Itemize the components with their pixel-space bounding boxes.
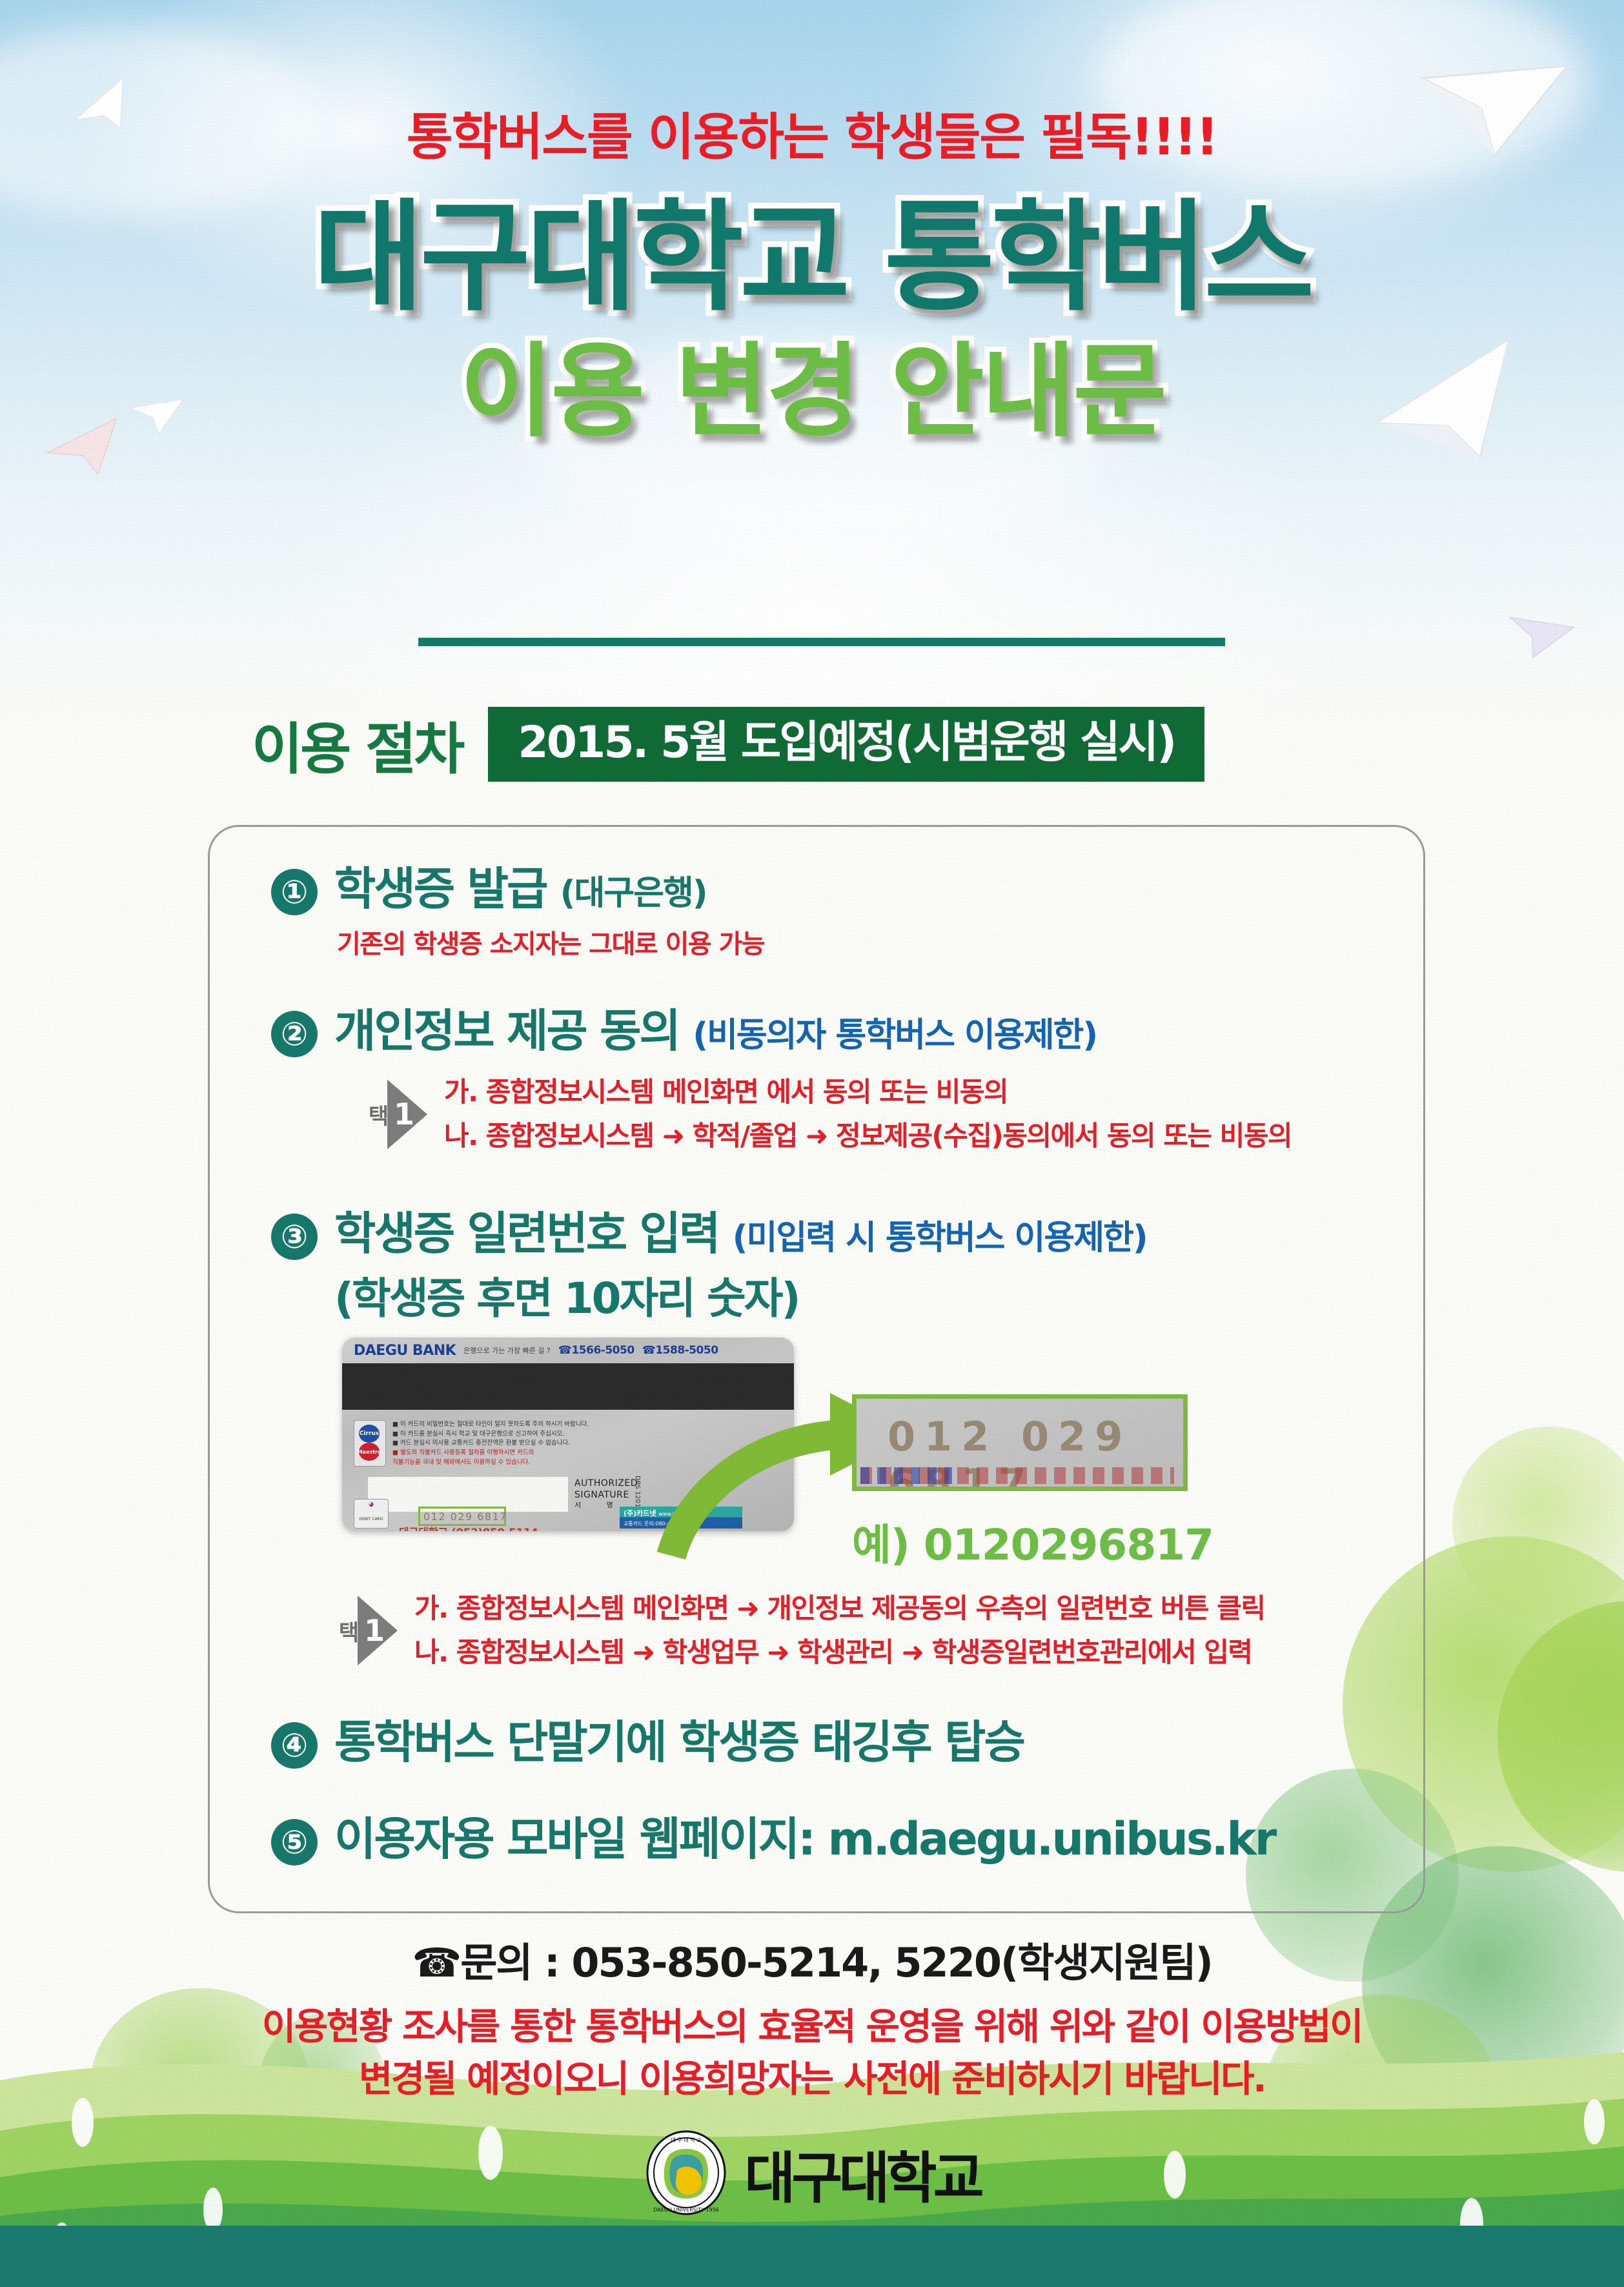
lead-headline: 통학버스를 이용하는 학생들은 필독!!!! <box>0 97 1624 169</box>
step-3-options: 가. 종합정보시스템 메인화면 ➜ 개인정보 제공동의 우측의 일련번호 버튼 … <box>414 1587 1265 1674</box>
step-3-option-a: 가. 종합정보시스템 메인화면 ➜ 개인정보 제공동의 우측의 일련번호 버튼 … <box>414 1587 1265 1631</box>
step-2-title: 개인정보 제공 동의 (비동의자 통학버스 이용제한) <box>334 1006 1292 1056</box>
poster-title: 대구대학교 통학버스 이용 변경 안내문 <box>0 194 1624 449</box>
choose-one-label: 택 <box>365 1104 387 1124</box>
serial-callout: 012 029 6817 예) 0120296817 <box>852 1394 1213 1572</box>
auth-sig-line1: AUTHORIZED <box>574 1478 638 1490</box>
notice-block: 이용현황 조사를 통한 통학버스의 효율적 운영을 위해 위와 같이 이용방법이… <box>0 2001 1624 2106</box>
step-2-choice-block: 택 1 가. 종합정보시스템 메인화면 에서 동의 또는 비동의 나. 종합정보… <box>365 1070 1292 1158</box>
step-2-options: 가. 종합정보시스템 메인화면 에서 동의 또는 비동의 나. 종합정보시스템 … <box>444 1070 1292 1158</box>
step-number-1: ① <box>271 869 318 915</box>
card-note-4: ■ 별도의 직불카드 사용등록 절차를 이행하시면 카드의 <box>392 1448 651 1458</box>
bank-tel-2: ☎1588-5050 <box>642 1344 718 1357</box>
step-2-paren: (비동의자 통학버스 이용제한) <box>693 1016 1097 1055</box>
section-header: 이용 절차 2015. 5월 도입예정(시범운행 실시) <box>252 704 1204 784</box>
section-title: 이용 절차 <box>252 704 462 784</box>
contact-text: 문의 : 053-850-5214, 5220(학생지원팀) <box>460 1939 1212 1986</box>
cirrus-icon: Cirrus <box>359 1425 380 1443</box>
debit-card-logo: ◕ DEBIT CARD <box>354 1499 389 1529</box>
step-2-option-b: 나. 종합정보시스템 ➜ 학적/졸업 ➜ 정보제공(수집)동의에서 동의 또는 … <box>444 1114 1292 1158</box>
step-3-title: 학생증 일련번호 입력 (미입력 시 통학버스 이용제한) <box>334 1208 1147 1259</box>
card-note-1: ■ 이 카드의 비밀번호는 절대로 타인이 알지 못하도록 주의 하시기 바랍니… <box>392 1420 651 1430</box>
step-3-choice-block: 택 1 가. 종합정보시스템 메인화면 ➜ 개인정보 제공동의 우측의 일련번호… <box>336 1587 1265 1674</box>
daegu-university-seal-icon: 대 구 대 학 교 DAEGU UNIVERSITY 1956 <box>644 2130 729 2215</box>
card-top-strip: DAEGU BANK 은행으로 가는 가장 빠른 길 ? ☎1566-5050 … <box>342 1337 794 1363</box>
callout-strip-blue <box>860 1467 952 1484</box>
step-5: ⑤ 이용자용 모바일 웹페이지: m.daegu.unibus.kr <box>271 1814 1275 1865</box>
card-note-3: ■ 카드 분실시 미사용 교통카드 충전잔액은 환불 받으실 수 없습니다. <box>392 1439 651 1448</box>
step-1-subtext: 기존의 학생증 소지자는 그대로 이용 가능 <box>337 923 764 961</box>
choose-one-label: 택 <box>336 1621 358 1640</box>
card-university-line: 대구대학교 (053)850-5114 <box>399 1523 538 1531</box>
svg-text:DAEGU UNIVERSITY 1956: DAEGU UNIVERSITY 1956 <box>653 2207 719 2213</box>
university-logo: 대 구 대 학 교 DAEGU UNIVERSITY 1956 대구대학교 <box>0 2130 1624 2215</box>
footer-bar <box>0 2226 1624 2287</box>
university-name: 대구대학교 <box>744 2133 980 2213</box>
choose-one-marker: 택 1 <box>336 1596 398 1665</box>
step-3-option-b: 나. 종합정보시스템 ➜ 학생업무 ➜ 학생관리 ➜ 학생증일련번호관리에서 입… <box>414 1631 1265 1674</box>
step-number-5: ⑤ <box>271 1819 318 1865</box>
contact-line: ☎문의 : 053-850-5214, 5220(학생지원팀) <box>0 1930 1624 1988</box>
telephone-icon: ☎ <box>412 1939 460 1986</box>
debit-mark-icon: ◕ <box>354 1501 388 1508</box>
step-1: ① 학생증 발급 (대구은행) 기존의 학생증 소지자는 그대로 이용 가능 <box>271 864 764 961</box>
choose-one-triangle: 1 <box>358 1596 398 1665</box>
title-line-2: 이용 변경 안내문 <box>0 336 1624 449</box>
maestro-icon: Maestro <box>359 1443 380 1461</box>
choose-one-marker: 택 1 <box>365 1079 427 1149</box>
step-4: ④ 통학버스 단말기에 학생증 태깅후 탑승 <box>271 1717 1024 1769</box>
step-2-main-text: 개인정보 제공 동의 <box>334 1004 679 1057</box>
step-3-subline: (학생증 후면 10자리 숫자) <box>334 1264 1147 1326</box>
step-4-title: 통학버스 단말기에 학생증 태깅후 탑승 <box>334 1717 1024 1767</box>
step-2-option-a: 가. 종합정보시스템 메인화면 에서 동의 또는 비동의 <box>444 1070 1292 1114</box>
notice-line-1: 이용현황 조사를 통한 통학버스의 효율적 운영을 위해 위와 같이 이용방법이 <box>0 2001 1624 2053</box>
choose-one-triangle: 1 <box>387 1079 427 1149</box>
notice-line-2: 변경될 예정이오니 이용희망자는 사전에 준비하시기 바랍니다. <box>0 2053 1624 2106</box>
card-note-5: 직불기능을 국내 및 해외에서도 이용하실 수 있습니다. <box>392 1458 651 1468</box>
title-divider <box>418 638 1225 646</box>
section-badge: 2015. 5월 도입예정(시범운행 실시) <box>488 707 1204 782</box>
step-2: ② 개인정보 제공 동의 (비동의자 통학버스 이용제한) 택 1 가. 종합정… <box>271 1006 1292 1158</box>
title-line-1: 대구대학교 통학버스 <box>0 194 1624 321</box>
svg-text:대 구 대 학 교: 대 구 대 학 교 <box>671 2137 702 2143</box>
step-1-paren: (대구은행) <box>560 874 707 913</box>
step-3-main-text: 학생증 일련번호 입력 <box>334 1207 718 1260</box>
cirrus-maestro-logo: Cirrus Maestro <box>354 1420 386 1467</box>
debit-card-label: DEBIT CARD <box>354 1517 388 1521</box>
step-3-paren: (미입력 시 통학버스 이용제한) <box>733 1219 1147 1257</box>
step-5-title: 이용자용 모바일 웹페이지: m.daegu.unibus.kr <box>334 1814 1275 1864</box>
step-number-2: ② <box>271 1011 318 1057</box>
step-1-title: 학생증 발급 (대구은행) <box>334 864 764 914</box>
bank-tel-1: ☎1566-5050 <box>558 1344 634 1357</box>
authorized-signature-label: AUTHORIZED SIGNATURE 서 명 <box>574 1478 638 1510</box>
step-number-4: ④ <box>271 1722 318 1769</box>
step-3: ③ 학생증 일련번호 입력 (미입력 시 통학버스 이용제한) (학생증 후면 … <box>271 1208 1147 1326</box>
bank-slogan: 은행으로 가는 가장 빠른 길 ? <box>463 1345 551 1356</box>
serial-callout-box: 012 029 6817 <box>852 1394 1188 1491</box>
card-serial-number: 012 029 6817 <box>423 1510 507 1523</box>
auth-sig-line2: SIGNATURE <box>574 1490 638 1501</box>
bank-name: DAEGU BANK <box>354 1343 456 1359</box>
serial-example-text: 예) 0120296817 <box>852 1510 1213 1572</box>
step-number-3: ③ <box>271 1214 318 1260</box>
card-note-2: ■ 이 카드를 분실시 즉시 학교 및 대구은행으로 신고하여 주십시오. <box>392 1430 651 1439</box>
card-notes: ■ 이 카드의 비밀번호는 절대로 타인이 알지 못하도록 주의 하시기 바랍니… <box>392 1420 651 1468</box>
step-1-main-text: 학생증 발급 <box>334 862 546 915</box>
